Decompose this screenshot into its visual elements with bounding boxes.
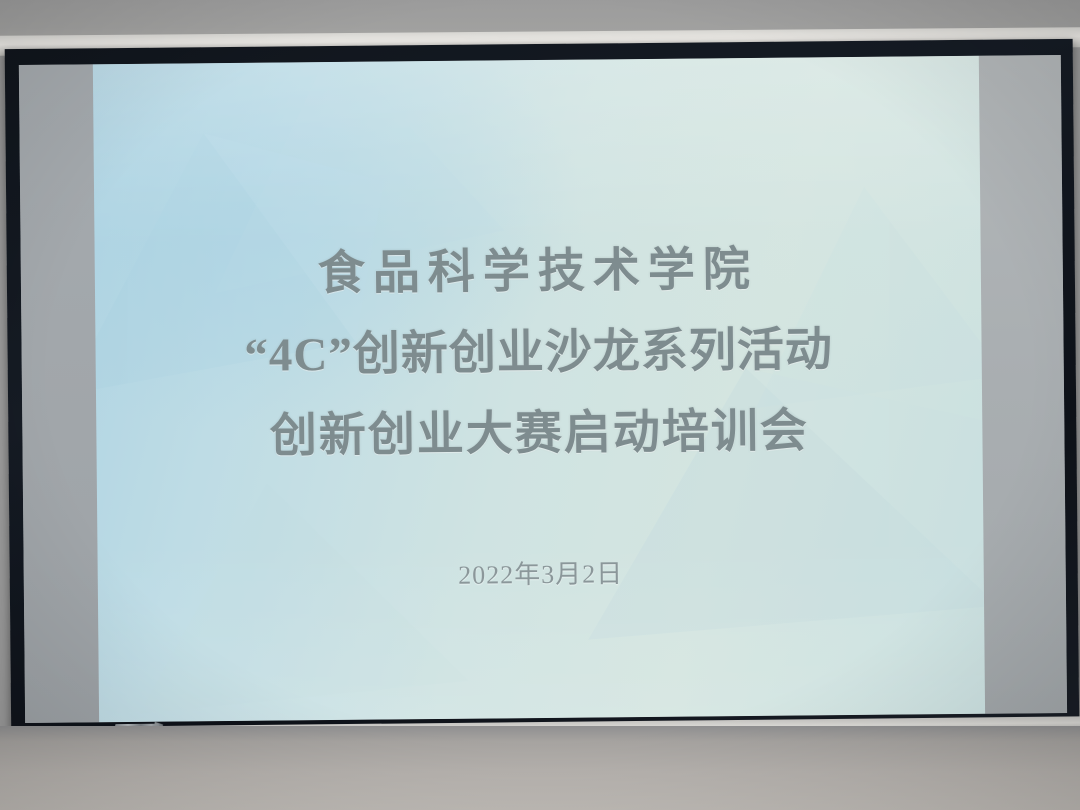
slide-title-line-3: 创新创业大赛启动培训会 bbox=[270, 391, 810, 477]
screen-area: 食品科学技术学院 “4C”创新创业沙龙系列活动 创新创业大赛启动培训会 2022… bbox=[19, 55, 1067, 723]
wall-lower bbox=[0, 726, 1080, 810]
slide-title-line-1: 食品科学技术学院 bbox=[317, 230, 758, 315]
photo-scene: 食品科学技术学院 “4C”创新创业沙龙系列活动 创新创业大赛启动培训会 2022… bbox=[0, 0, 1080, 810]
screen-panel-left bbox=[19, 64, 99, 723]
slide-date: 2022年3月2日 bbox=[458, 554, 623, 593]
screen-panel-right bbox=[979, 55, 1067, 714]
projection-display-unit: 食品科学技术学院 “4C”创新创业沙龙系列活动 创新创业大赛启动培训会 2022… bbox=[5, 39, 1080, 747]
slide-title-line-2: “4C”创新创业沙龙系列活动 bbox=[244, 310, 833, 396]
projected-slide: 食品科学技术学院 “4C”创新创业沙龙系列活动 创新创业大赛启动培训会 2022… bbox=[93, 56, 985, 722]
slide-text-block: 食品科学技术学院 “4C”创新创业沙龙系列活动 创新创业大赛启动培训会 2022… bbox=[93, 56, 985, 722]
